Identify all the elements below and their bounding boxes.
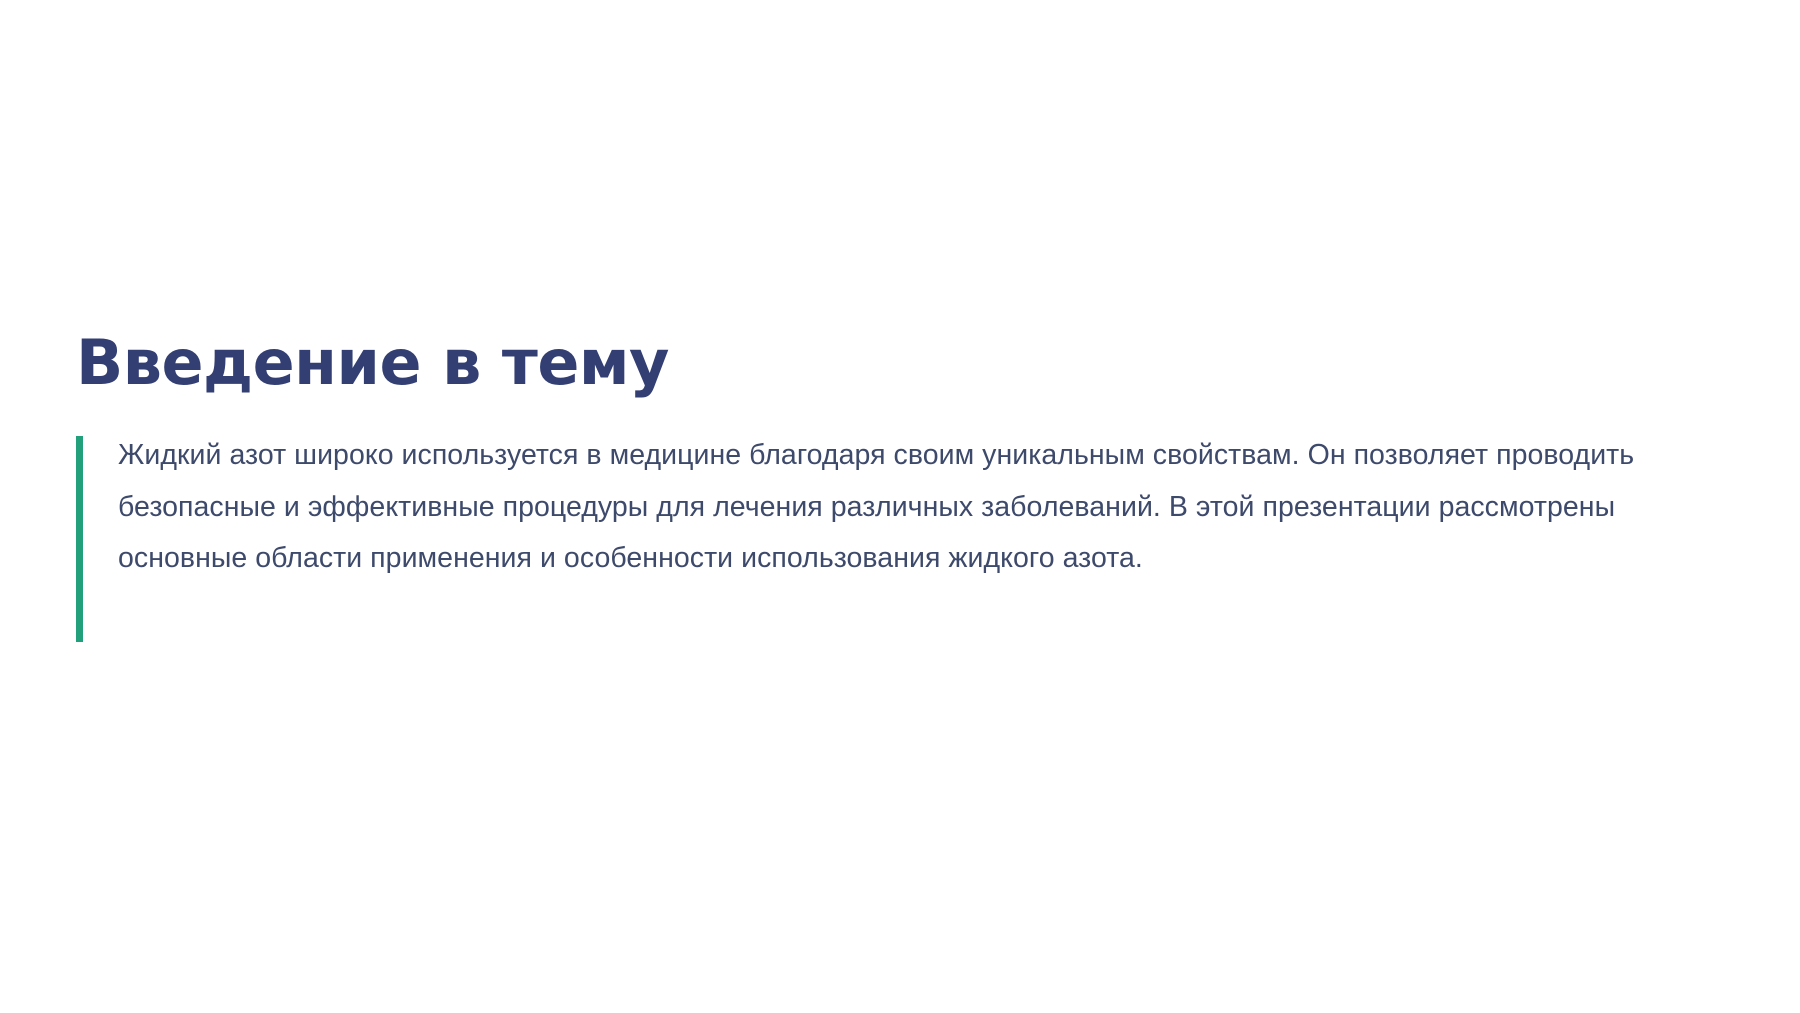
body-paragraph: Жидкий азот широко используется в медици… (118, 430, 1718, 586)
presentation-slide: Введение в тему Жидкий азот широко испол… (0, 0, 1800, 1013)
body-block: Жидкий азот широко используется в медици… (76, 430, 1736, 586)
slide-content: Введение в тему Жидкий азот широко испол… (76, 330, 1736, 585)
page-title: Введение в тему (76, 330, 1736, 396)
accent-bar (76, 436, 83, 642)
